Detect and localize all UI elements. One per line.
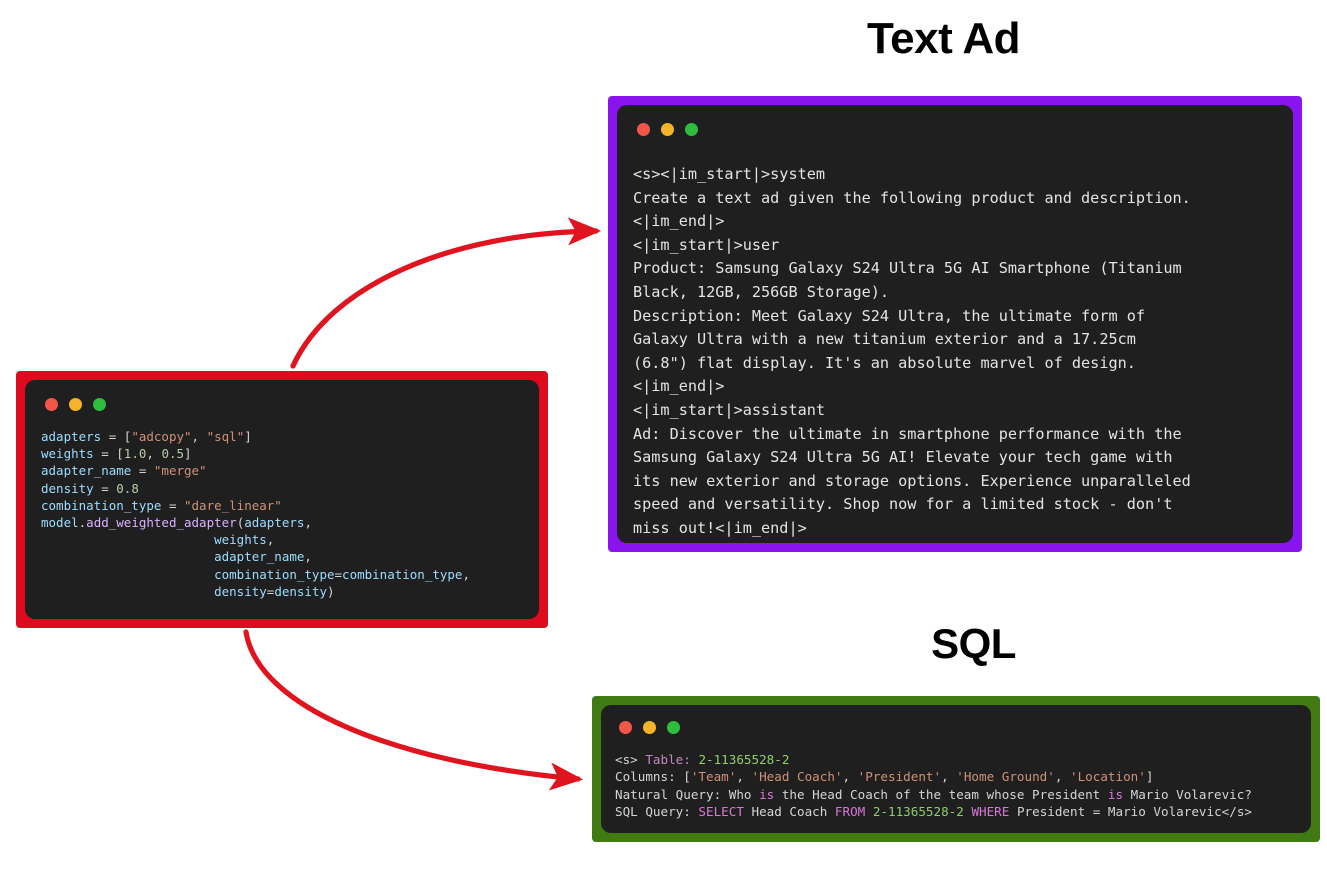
code-token: 0.5 xyxy=(161,446,184,461)
sql-panel: <s> Table: 2-11365528-2 Columns: ['Team'… xyxy=(592,696,1320,842)
close-dot[interactable] xyxy=(45,398,58,411)
code-token: , xyxy=(267,532,275,547)
sql-code-block: <s> Table: 2-11365528-2 Columns: ['Team'… xyxy=(615,751,1299,821)
code-token xyxy=(865,804,873,819)
code-token: the Head Coach of the team whose Preside… xyxy=(774,787,1108,802)
python-code-block: adapters = ["adcopy", "sql"] weights = [… xyxy=(41,428,525,600)
python-code-panel: adapters = ["adcopy", "sql"] weights = [… xyxy=(16,371,548,628)
code-token: is xyxy=(1108,787,1123,802)
code-token: weights xyxy=(41,446,94,461)
code-token: 1.0 xyxy=(124,446,147,461)
textad-prompt-text: <s><|im_start|>system Create a text ad g… xyxy=(633,163,1279,541)
python-terminal-screen: adapters = ["adcopy", "sql"] weights = [… xyxy=(25,380,539,619)
code-token: , xyxy=(1055,769,1070,784)
code-token: adapter_name xyxy=(41,463,131,478)
code-token: = xyxy=(161,498,184,513)
code-token: WHERE xyxy=(971,804,1009,819)
code-token xyxy=(41,532,214,547)
code-token: , xyxy=(304,549,312,564)
code-token: Table: xyxy=(645,752,691,767)
code-token: 2-11365528-2 xyxy=(698,752,789,767)
code-token: ) xyxy=(327,584,335,599)
code-token: add_weighted_adapter xyxy=(86,515,237,530)
code-token: , xyxy=(146,446,161,461)
code-token: <s> xyxy=(615,752,645,767)
code-token: = xyxy=(94,446,117,461)
textad-terminal-screen: <s><|im_start|>system Create a text ad g… xyxy=(617,105,1293,543)
code-token: weights xyxy=(214,532,267,547)
code-token: Head Coach xyxy=(744,804,835,819)
code-token: = xyxy=(101,429,124,444)
code-token: FROM xyxy=(835,804,865,819)
minimize-dot[interactable] xyxy=(69,398,82,411)
code-token: adapter_name xyxy=(214,549,304,564)
code-token xyxy=(41,584,214,599)
code-token: = xyxy=(131,463,154,478)
arrow-python-to-textad xyxy=(293,231,596,366)
textad-panel: <s><|im_start|>system Create a text ad g… xyxy=(608,96,1302,552)
code-token xyxy=(41,567,214,582)
code-token: combination_type xyxy=(41,498,161,513)
close-dot[interactable] xyxy=(619,721,632,734)
code-token: density xyxy=(274,584,327,599)
code-token: 'Location' xyxy=(1070,769,1146,784)
code-token: density xyxy=(214,584,267,599)
window-controls xyxy=(45,396,525,412)
code-token: , xyxy=(462,567,470,582)
code-token: adapters xyxy=(244,515,304,530)
code-token: 0.8 xyxy=(116,481,139,496)
code-token: ] xyxy=(244,429,252,444)
code-token: , xyxy=(304,515,312,530)
window-controls xyxy=(619,719,1299,735)
code-token: SELECT xyxy=(698,804,744,819)
code-token: model xyxy=(41,515,79,530)
close-dot[interactable] xyxy=(637,123,650,136)
maximize-dot[interactable] xyxy=(685,123,698,136)
code-token: = xyxy=(335,567,343,582)
code-token: , xyxy=(192,429,207,444)
code-token: 'President' xyxy=(858,769,941,784)
code-token: , xyxy=(941,769,956,784)
code-token: SQL Query: xyxy=(615,804,698,819)
code-token: Columns: [ xyxy=(615,769,691,784)
code-token: is xyxy=(759,787,774,802)
code-token: adapters xyxy=(41,429,101,444)
code-token: "sql" xyxy=(207,429,245,444)
sql-terminal-screen: <s> Table: 2-11365528-2 Columns: ['Team'… xyxy=(601,705,1311,833)
code-token: , xyxy=(736,769,751,784)
window-controls xyxy=(637,121,1279,137)
code-token: ] xyxy=(184,446,192,461)
maximize-dot[interactable] xyxy=(667,721,680,734)
code-token: 'Team' xyxy=(691,769,737,784)
code-token: [ xyxy=(116,446,124,461)
code-token: Mario Volarevic? xyxy=(1123,787,1252,802)
code-token: ] xyxy=(1146,769,1154,784)
code-token: 'Home Ground' xyxy=(956,769,1055,784)
code-token: "adcopy" xyxy=(131,429,191,444)
code-token: combination_type xyxy=(214,567,334,582)
text-ad-title: Text Ad xyxy=(280,14,1327,64)
code-token: 'Head Coach' xyxy=(752,769,843,784)
code-token: , xyxy=(843,769,858,784)
code-token: Natural Query: Who xyxy=(615,787,759,802)
code-token xyxy=(41,549,214,564)
code-token: President = Mario Volarevic</s> xyxy=(1009,804,1252,819)
minimize-dot[interactable] xyxy=(643,721,656,734)
code-token: "merge" xyxy=(154,463,207,478)
code-token: 2-11365528-2 xyxy=(873,804,964,819)
code-token: density xyxy=(41,481,94,496)
code-token: "dare_linear" xyxy=(184,498,282,513)
code-token: = xyxy=(94,481,117,496)
maximize-dot[interactable] xyxy=(93,398,106,411)
minimize-dot[interactable] xyxy=(661,123,674,136)
code-token: combination_type xyxy=(342,567,462,582)
